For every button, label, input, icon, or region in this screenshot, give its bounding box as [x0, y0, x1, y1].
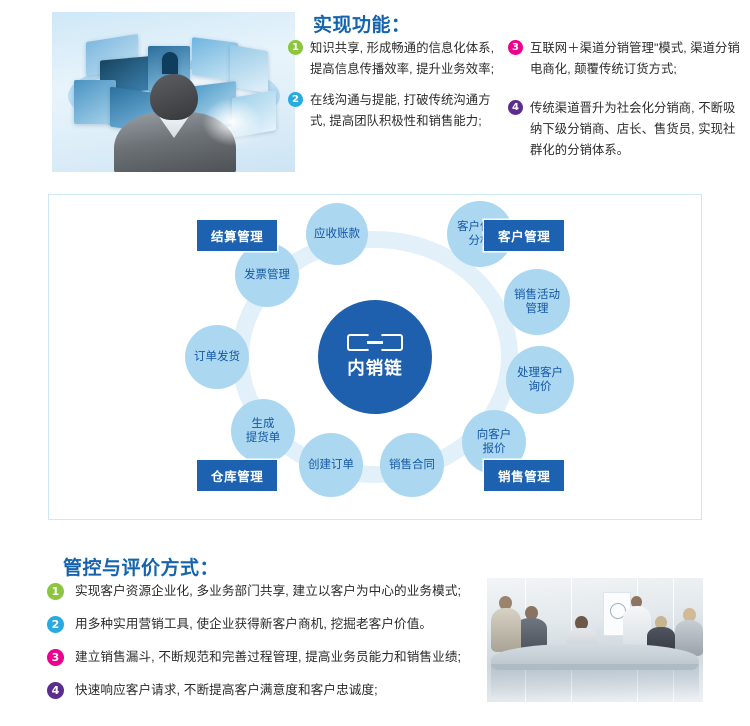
- tag-settlement-management[interactable]: 结算管理: [197, 220, 277, 251]
- hub-node: 内销链: [318, 300, 432, 414]
- tag-label: 仓库管理: [211, 466, 263, 485]
- bubble-label: 应收账款: [314, 227, 360, 241]
- list-item-text: 快速响应客户请求, 不断提高客户满意度和客户忠诚度;: [75, 681, 378, 700]
- evaluation-list: 1 实现客户资源企业化, 多业务部门共享, 建立以客户为中心的业务模式; 2 用…: [47, 582, 487, 714]
- bubble-sales-contract[interactable]: 销售合同: [380, 433, 444, 497]
- list-item-text: 建立销售漏斗, 不断规范和完善过程管理, 提高业务员能力和销售业绩;: [75, 648, 461, 667]
- list-item: 2 在线沟通与提能, 打破传统沟通方式, 提高团队积极性和销售能力;: [288, 90, 500, 132]
- list-item: 1 实现客户资源企业化, 多业务部门共享, 建立以客户为中心的业务模式;: [47, 582, 487, 601]
- list-item-text: 在线沟通与提能, 打破传统沟通方式, 提高团队积极性和销售能力;: [310, 90, 500, 132]
- list-item: 2 用多种实用营销工具, 使企业获得新客户商机, 挖掘老客户价值。: [47, 615, 487, 634]
- bubble-label: 发票管理: [244, 268, 290, 282]
- list-item: 3 建立销售漏斗, 不断规范和完善过程管理, 提高业务员能力和销售业绩;: [47, 648, 487, 667]
- bubble-create-order[interactable]: 创建订单: [299, 433, 363, 497]
- tag-sales-management[interactable]: 销售管理: [484, 460, 564, 491]
- bubble-label: 订单发货: [194, 350, 240, 364]
- tag-label: 结算管理: [211, 226, 263, 245]
- list-badge: 2: [47, 616, 64, 633]
- bubble-label: 销售合同: [389, 458, 435, 472]
- list-item: 4 快速响应客户请求, 不断提高客户满意度和客户忠诚度;: [47, 681, 487, 700]
- bubble-label: 向客户 报价: [477, 428, 512, 456]
- tag-label: 销售管理: [498, 466, 550, 485]
- tag-label: 客户管理: [498, 226, 550, 245]
- diagram-canvas: 内销链 应收账款 客户信息 分析 销售活动 管理 处理客户 询价 向客户 报价 …: [49, 195, 701, 519]
- bubble-sales-activity-management[interactable]: 销售活动 管理: [504, 269, 570, 335]
- chain-link-icon: [347, 334, 403, 351]
- list-item-text: 传统渠道晋升为社会化分销商, 不断吸纳下级分销商、店长、售货员, 实现社群化的分…: [530, 98, 740, 161]
- bubble-label: 处理客户 询价: [517, 366, 563, 394]
- bubble-handle-customer-inquiry[interactable]: 处理客户 询价: [506, 346, 574, 414]
- hub-label: 内销链: [347, 355, 403, 380]
- list-badge: 3: [47, 649, 64, 666]
- list-badge: 2: [288, 92, 303, 107]
- bubble-accounts-receivable[interactable]: 应收账款: [306, 203, 368, 265]
- light-glow: [202, 98, 262, 146]
- list-badge: 1: [47, 583, 64, 600]
- diagram-panel: 内销链 应收账款 客户信息 分析 销售活动 管理 处理客户 询价 向客户 报价 …: [48, 194, 702, 520]
- list-badge: 3: [508, 40, 523, 55]
- list-item-text: 知识共享, 形成畅通的信息化体系, 提高信息传播效率, 提升业务效率;: [310, 38, 500, 80]
- bubble-label: 生成 提货单: [246, 417, 281, 445]
- functions-list-left: 1 知识共享, 形成畅通的信息化体系, 提高信息传播效率, 提升业务效率; 2 …: [288, 38, 500, 142]
- page-root: 实现功能： 1 知识共享, 形成畅通的信息化体系, 提高信息传播效率, 提升业务…: [0, 0, 750, 726]
- page-title-evaluation: 管控与评价方式：: [63, 553, 219, 580]
- bubble-generate-delivery-note[interactable]: 生成 提货单: [231, 399, 295, 463]
- list-item-text: 用多种实用营销工具, 使企业获得新客户商机, 挖掘老客户价值。: [75, 615, 432, 634]
- bubble-order-delivery[interactable]: 订单发货: [185, 325, 249, 389]
- bubble-label: 销售活动 管理: [514, 288, 560, 316]
- tag-customer-management[interactable]: 客户管理: [484, 220, 564, 251]
- person-head: [150, 74, 198, 120]
- list-badge: 1: [288, 40, 303, 55]
- page-title-functions: 实现功能：: [313, 10, 411, 37]
- hero-photo: [52, 12, 295, 172]
- list-item: 3 互联网＋渠道分销管理"模式, 渠道分销电商化, 颠覆传统订货方式;: [508, 38, 740, 80]
- tag-warehouse-management[interactable]: 仓库管理: [197, 460, 277, 491]
- list-item-text: 实现客户资源企业化, 多业务部门共享, 建立以客户为中心的业务模式;: [75, 582, 461, 601]
- bubble-label: 创建订单: [308, 458, 354, 472]
- person-attendee: [491, 608, 521, 652]
- list-item: 1 知识共享, 形成畅通的信息化体系, 提高信息传播效率, 提升业务效率;: [288, 38, 500, 80]
- meeting-photo: [487, 578, 703, 702]
- table-reflection: [491, 664, 699, 700]
- list-badge: 4: [47, 682, 64, 699]
- list-badge: 4: [508, 100, 523, 115]
- functions-list-right: 3 互联网＋渠道分销管理"模式, 渠道分销电商化, 颠覆传统订货方式; 4 传统…: [508, 38, 740, 179]
- list-item-text: 互联网＋渠道分销管理"模式, 渠道分销电商化, 颠覆传统订货方式;: [530, 38, 740, 80]
- bubble-invoice-management[interactable]: 发票管理: [235, 243, 299, 307]
- floating-screen: [162, 52, 178, 74]
- list-item: 4 传统渠道晋升为社会化分销商, 不断吸纳下级分销商、店长、售货员, 实现社群化…: [508, 98, 740, 161]
